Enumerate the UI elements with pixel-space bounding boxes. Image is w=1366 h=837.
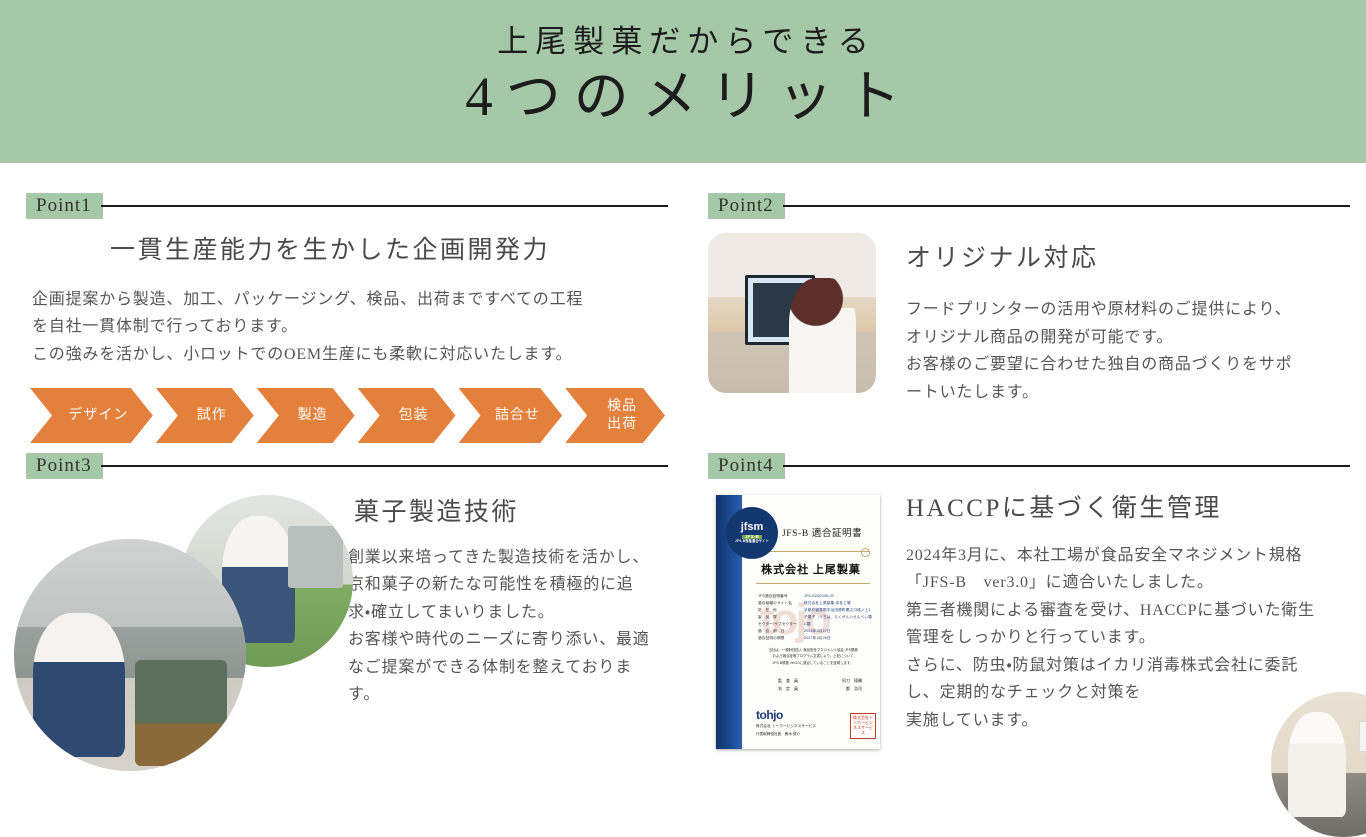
certificate-row: セクター/サブセクターC類 [758, 621, 872, 628]
point-card-2: Point2 オリジナル対応 フードプリンターの活用や原材料のご提供により、 オ… [708, 193, 1350, 422]
seal-main-text: jfsm [741, 522, 764, 534]
certificate-row: JFS適合証明番号JFS-B240045-00 [758, 593, 872, 600]
row-key: 適合証明の期限 [758, 635, 804, 642]
flow-step-packaging: 包装 [358, 388, 456, 443]
point-header-3: Point3 [26, 453, 668, 479]
point-header-1: Point1 [26, 193, 668, 219]
row-key: 製 品 群 [758, 614, 804, 621]
point-body-2: フードプリンターの活用や原材料のご提供により、 オリジナル商品の開発が可能です。… [906, 296, 1292, 406]
row-value: JFS-B240045-00 [804, 593, 834, 600]
point-body-3: 創業以来培ってきた製造技術を活かし、 京和菓子の新たな可能性を積極的に追 求・確… [348, 544, 668, 709]
signature-key: 判 定 員 [778, 685, 798, 693]
row-value: 株式会社上尾製菓 本社工場 [804, 600, 851, 607]
certificate-stamp-icon: 株式会社トーホービジネスサービス [850, 713, 876, 739]
certificate-detail-rows: JFS適合証明番号JFS-B240045-00 適合組織のサイト名株式会社上尾製… [758, 593, 872, 642]
tohjo-logo: tohjo [756, 708, 783, 722]
row-key: JFS適合証明番号 [758, 593, 804, 600]
certificate-row: 適合証明の期限2027年3月26日 [758, 635, 872, 642]
flow-step-assortment: 詰合せ [459, 388, 563, 443]
points-grid: Point1 一貫生産能力を生かした企画開発力 企画提案から製造、加工、パッケー… [0, 163, 1366, 787]
flow-step-label: 検品 出荷 [593, 398, 637, 433]
point-badge-2: Point2 [708, 193, 785, 219]
row-value: 2024年3月27日 [804, 628, 831, 635]
point-rule-3 [101, 465, 668, 467]
process-flow: デザイン 試作 製造 包装 詰合せ 検品 出荷 [30, 388, 668, 443]
point-heading-1: 一貫生産能力を生かした企画開発力 [110, 235, 668, 268]
photo-office-worker [708, 233, 876, 393]
certificate-row: 所 在 地京都府綴喜郡宇治田原町郷之口段ノ上1 [758, 607, 872, 614]
point-header-4: Point4 [708, 453, 1350, 479]
hero-banner: 上尾製菓だからできる 4つのメリット [0, 0, 1366, 163]
row-value: 京都府綴喜郡宇治田原町郷之口段ノ上1 [804, 607, 871, 614]
flow-step-inspection-shipping: 検品 出荷 [565, 388, 665, 443]
point-badge-4: Point4 [708, 453, 785, 479]
point-rule-1 [101, 205, 668, 207]
certificate-company-name: 株式会社 上尾製菓 [742, 561, 880, 577]
certificate-row: 適合組織のサイト名株式会社上尾製菓 本社工場 [758, 600, 872, 607]
flow-step-design: デザイン [30, 388, 153, 443]
flow-step-label: 試作 [183, 407, 227, 425]
certificate-row: 製 品 群子菓子（うちは、らくがん）・せんべい類 [758, 614, 872, 621]
certificate-ornament-divider [756, 551, 870, 559]
point-card-4: Point4 jfsm JFS-B JFS-B規格適合サイト tojo JFS-… [708, 453, 1350, 779]
flow-step-label: デザイン [54, 407, 128, 425]
row-value: 子菓子（うちは、らくがん）・せんべい類 [804, 614, 872, 621]
photo-kitchen-lower [14, 539, 246, 771]
point-card-3: Point3 菓子製造技術 創業以来培ってきた製造技術を活かし、 京和菓子の新た… [26, 453, 668, 779]
point-badge-3: Point3 [26, 453, 103, 479]
flow-step-manufacture: 製造 [257, 388, 355, 443]
row-key: 適合組織のサイト名 [758, 600, 804, 607]
point-body-1: 企画提案から製造、加工、パッケージング、検品、出荷まですべての工程 を自社一貫体… [32, 286, 668, 369]
certificate-divider-line [756, 583, 870, 584]
point-header-2: Point2 [708, 193, 1350, 219]
row-key: 所 在 地 [758, 607, 804, 614]
flow-step-label: 包装 [385, 407, 429, 425]
certificate-row: 適 合 期 日2024年3月27日 [758, 628, 872, 635]
signature-value: 阿刀 稜輔 [842, 677, 862, 685]
point-card-1: Point1 一貫生産能力を生かした企画開発力 企画提案から製造、加工、パッケー… [26, 193, 668, 443]
point-heading-3: 菓子製造技術 [354, 497, 668, 530]
point-rule-2 [783, 205, 1350, 207]
point-heading-4: HACCPに基づく衛生管理 [906, 493, 1350, 526]
row-value: 2027年3月26日 [804, 635, 831, 642]
row-key: セクター/サブセクター [758, 621, 804, 628]
hero-title: 4つのメリット [452, 63, 914, 132]
row-key: 適 合 期 日 [758, 628, 804, 635]
certificate-title: JFS-B 適合証明書 [782, 525, 862, 539]
jfs-b-certificate: jfsm JFS-B JFS-B規格適合サイト tojo JFS-B 適合証明書… [716, 495, 880, 749]
point-heading-2: オリジナル対応 [906, 243, 1292, 276]
row-value: C類 [804, 621, 811, 628]
signature-value: 都 浩司 [846, 685, 862, 693]
certificate-statement: 当社は、一般財団法人 食品安全マネジメント協会 JFS規格 および適合証明プログ… [756, 647, 870, 666]
seal-note-text: JFS-B規格適合サイト [735, 540, 769, 543]
flow-step-prototype: 試作 [156, 388, 254, 443]
point-rule-4 [783, 465, 1350, 467]
flow-step-label: 製造 [284, 407, 328, 425]
certificate-signatures: 監 査 員阿刀 稜輔 判 定 員都 浩司 [778, 677, 862, 694]
flow-step-label: 詰合せ [481, 407, 540, 425]
signature-key: 監 査 員 [778, 677, 798, 685]
hero-subtitle: 上尾製菓だからできる [490, 25, 875, 59]
jfsm-seal-icon: jfsm JFS-B JFS-B規格適合サイト [726, 507, 778, 559]
photo-handwashing [1271, 692, 1366, 837]
point-badge-1: Point1 [26, 193, 103, 219]
